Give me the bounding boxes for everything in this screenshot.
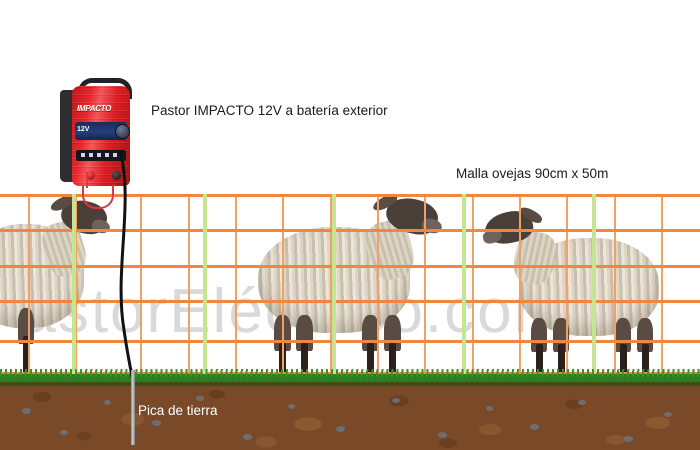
earth-rod — [131, 370, 135, 445]
soil-stone — [288, 404, 295, 409]
soil-stone — [486, 406, 493, 411]
soil-stone — [392, 398, 400, 403]
fence-post — [462, 194, 466, 380]
sheep-left — [0, 196, 116, 382]
fence-diagram-scene: PastorEléctrico.com — [0, 0, 700, 450]
fence-post — [72, 194, 76, 380]
fence-post — [332, 194, 336, 380]
energizer-dial-knob[interactable] — [115, 124, 130, 139]
fence-post — [203, 194, 207, 380]
energizer-voltage-label: 12V — [77, 126, 89, 133]
soil-stone — [336, 426, 345, 432]
sheep-center — [258, 197, 454, 382]
energizer-brand-label: IMPACTO — [77, 104, 129, 113]
label-mesh: Malla ovejas 90cm x 50m — [456, 166, 608, 181]
soil-stone — [104, 400, 111, 405]
soil-stone — [243, 434, 252, 440]
fence-post — [592, 194, 596, 380]
soil-stone — [152, 420, 161, 426]
soil-stone — [624, 436, 633, 442]
soil-stone — [578, 400, 586, 405]
sheep-right — [487, 210, 665, 382]
soil-cross-section — [0, 382, 700, 450]
energizer-control-panel[interactable]: 12V — [75, 122, 127, 140]
soil-stone — [196, 396, 204, 401]
label-energizer: Pastor IMPACTO 12V a batería exterior — [151, 103, 388, 118]
soil-stone — [22, 408, 31, 414]
soil-stone — [60, 430, 68, 435]
soil-stone — [664, 412, 672, 417]
soil-stone — [530, 424, 539, 430]
ground-cable — [100, 150, 140, 382]
grass-shadow — [0, 382, 700, 386]
soil-stone — [438, 432, 447, 438]
soil-texture — [0, 382, 700, 450]
label-ground-rod: Pica de tierra — [138, 403, 218, 418]
